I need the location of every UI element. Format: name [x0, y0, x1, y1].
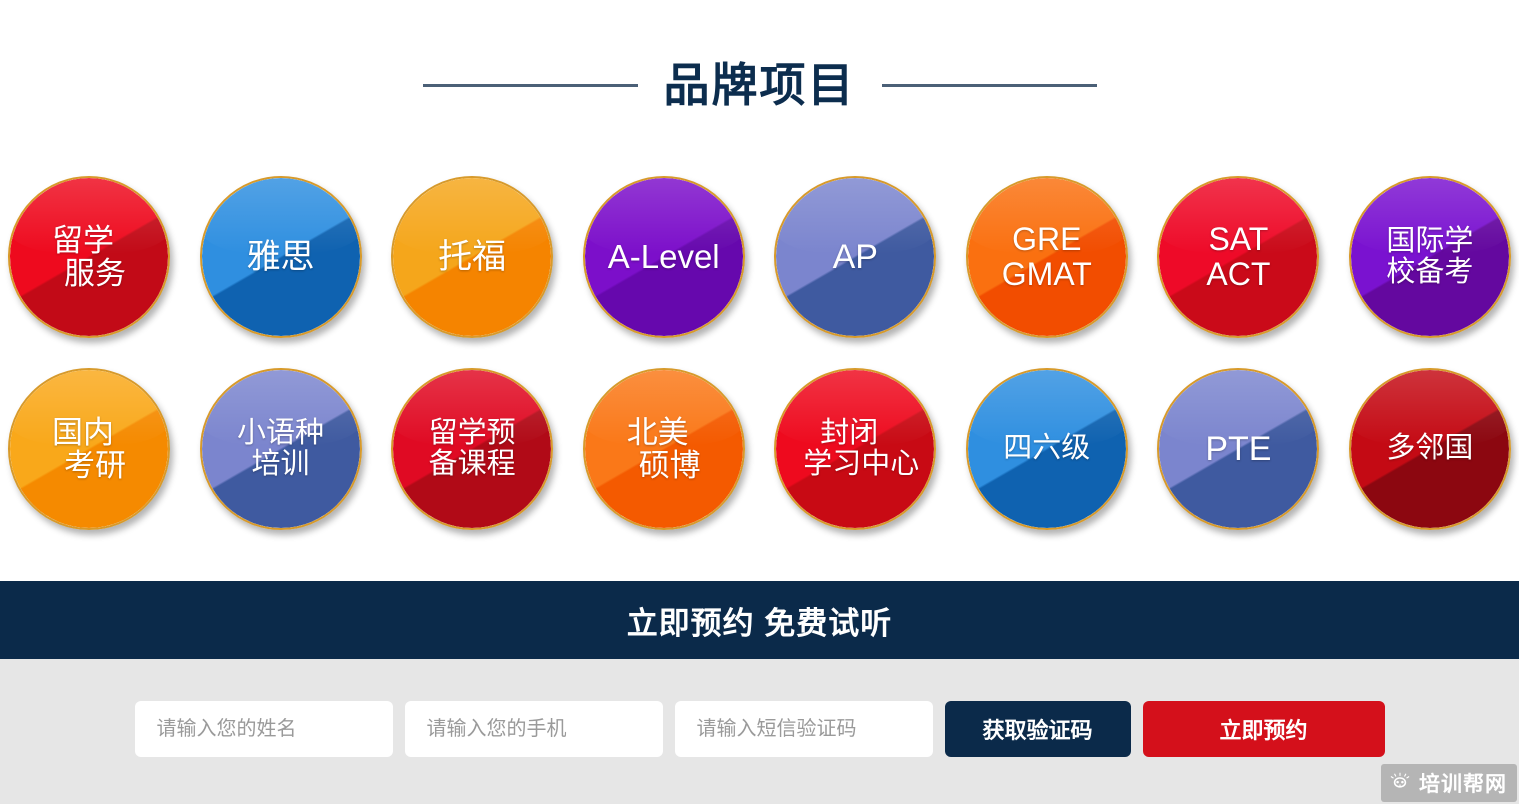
program-bubble-wrap: 雅思	[200, 176, 362, 338]
program-row-1: 留学服务雅思托福A-LevelAPGREGMATSATACT国际学校备考	[0, 176, 1519, 338]
program-label-line: 多邻国	[1386, 433, 1473, 464]
program-bubble-label: AP	[829, 239, 882, 276]
program-bubble-ap[interactable]: AP	[774, 176, 936, 338]
program-bubble-label: GREGMAT	[998, 222, 1096, 291]
program-bubble-label: 留学预备课程	[425, 418, 520, 481]
submit-booking-button[interactable]: 立即预约	[1143, 701, 1385, 757]
program-label-line: 封闭	[791, 418, 907, 449]
program-label-line: 国际学	[1386, 226, 1473, 257]
program-label-line: 留学	[52, 224, 114, 257]
program-label-line: GMAT	[1002, 257, 1092, 292]
program-label-line: 雅思	[247, 239, 315, 276]
booking-form: 获取验证码 立即预约	[135, 701, 1385, 757]
program-bubble-label: PTE	[1201, 431, 1275, 468]
program-bubble-label: 四六级	[999, 433, 1094, 464]
name-input[interactable]	[135, 701, 393, 757]
watermark-text: 培训帮网	[1419, 768, 1507, 798]
program-bubble-label: 封闭学习中心	[793, 418, 917, 481]
program-label-line: ACT	[1206, 257, 1270, 292]
program-bubble-gre-gmat[interactable]: GREGMAT	[966, 176, 1128, 338]
program-bubble-wrap: 小语种培训	[200, 368, 362, 530]
program-bubble-label: 国际学校备考	[1382, 226, 1477, 289]
program-label-line: GRE	[1002, 222, 1092, 257]
program-bubble-wrap: 四六级	[966, 368, 1128, 530]
program-bubble-wrap: 封闭学习中心	[774, 368, 936, 530]
program-bubble-label: 北美硕博	[629, 416, 699, 483]
cta-banner: 立即预约 免费试听	[0, 581, 1519, 659]
program-bubble-minor-language[interactable]: 小语种培训	[200, 368, 362, 530]
program-bubble-label: 留学服务	[54, 224, 124, 291]
program-label-line: 四六级	[1003, 433, 1090, 464]
title-rule-right	[882, 84, 1097, 87]
program-bubble-wrap: AP	[774, 176, 936, 338]
title-rule-left	[423, 84, 638, 87]
program-label-line: 校备考	[1386, 257, 1473, 288]
program-bubble-wrap: 多邻国	[1349, 368, 1511, 530]
program-label-line: 培训	[237, 449, 324, 480]
program-bubble-duolingo[interactable]: 多邻国	[1349, 368, 1511, 530]
program-label-line: 服务	[64, 257, 126, 290]
program-bubble-wrap: 国际学校备考	[1349, 176, 1511, 338]
program-bubble-label: 雅思	[243, 239, 319, 276]
program-label-line: 托福	[438, 239, 506, 276]
program-label-line: 国内	[52, 416, 114, 449]
program-label-line: A-Level	[608, 239, 720, 275]
program-bubble-study-abroad-service[interactable]: 留学服务	[8, 176, 170, 338]
program-bubble-label: 托福	[434, 239, 510, 276]
program-bubble-wrap: 托福	[391, 176, 553, 338]
brand-programs-page: 品牌项目 留学服务雅思托福A-LevelAPGREGMATSATACT国际学校备…	[0, 0, 1519, 804]
page-title: 品牌项目	[664, 62, 856, 108]
program-bubble-domestic-postgrad[interactable]: 国内考研	[8, 368, 170, 530]
program-bubble-label: 国内考研	[54, 416, 124, 483]
section-title-row: 品牌项目	[0, 62, 1519, 108]
program-bubble-sat-act[interactable]: SATACT	[1157, 176, 1319, 338]
program-label-line: SAT	[1206, 222, 1270, 257]
program-label-line: 北美	[627, 416, 689, 449]
program-label-line: 备课程	[429, 449, 516, 480]
program-bubble-intl-school-prep[interactable]: 国际学校备考	[1349, 176, 1511, 338]
booking-form-strip: 获取验证码 立即预约	[0, 659, 1519, 804]
program-bubble-toefl[interactable]: 托福	[391, 176, 553, 338]
program-bubble-cet-4-6[interactable]: 四六级	[966, 368, 1128, 530]
sms-code-input[interactable]	[675, 701, 933, 757]
program-bubble-label: SATACT	[1202, 222, 1274, 291]
phone-input[interactable]	[405, 701, 663, 757]
program-grid: 留学服务雅思托福A-LevelAPGREGMATSATACT国际学校备考 国内考…	[0, 176, 1519, 560]
program-bubble-label: A-Level	[604, 239, 724, 275]
program-bubble-pte[interactable]: PTE	[1157, 368, 1319, 530]
program-bubble-north-america-master-phd[interactable]: 北美硕博	[583, 368, 745, 530]
sun-face-icon	[1388, 771, 1412, 795]
program-bubble-ielts[interactable]: 雅思	[200, 176, 362, 338]
program-label-line: 学习中心	[803, 449, 919, 480]
program-label-line: 留学预	[429, 418, 516, 449]
program-bubble-wrap: 北美硕博	[583, 368, 745, 530]
program-label-line: 考研	[64, 449, 126, 482]
program-label-line: 硕博	[639, 449, 701, 482]
program-bubble-wrap: 国内考研	[8, 368, 170, 530]
get-sms-code-button[interactable]: 获取验证码	[945, 701, 1131, 757]
program-bubble-wrap: PTE	[1157, 368, 1319, 530]
program-row-2: 国内考研小语种培训留学预备课程北美硕博封闭学习中心四六级PTE多邻国	[0, 368, 1519, 530]
program-bubble-study-abroad-prep-course[interactable]: 留学预备课程	[391, 368, 553, 530]
program-bubble-a-level[interactable]: A-Level	[583, 176, 745, 338]
program-label-line: PTE	[1205, 431, 1271, 468]
program-bubble-wrap: GREGMAT	[966, 176, 1128, 338]
program-bubble-wrap: 留学预备课程	[391, 368, 553, 530]
site-watermark: 培训帮网	[1381, 764, 1517, 802]
cta-banner-text: 立即预约 免费试听	[627, 598, 893, 643]
program-bubble-label: 小语种培训	[233, 418, 328, 481]
program-bubble-wrap: A-Level	[583, 176, 745, 338]
program-bubble-wrap: SATACT	[1157, 176, 1319, 338]
program-label-line: AP	[833, 239, 878, 276]
program-bubble-label: 多邻国	[1382, 433, 1477, 464]
program-bubble-wrap: 留学服务	[8, 176, 170, 338]
program-label-line: 小语种	[237, 418, 324, 449]
program-bubble-closed-study-center[interactable]: 封闭学习中心	[774, 368, 936, 530]
